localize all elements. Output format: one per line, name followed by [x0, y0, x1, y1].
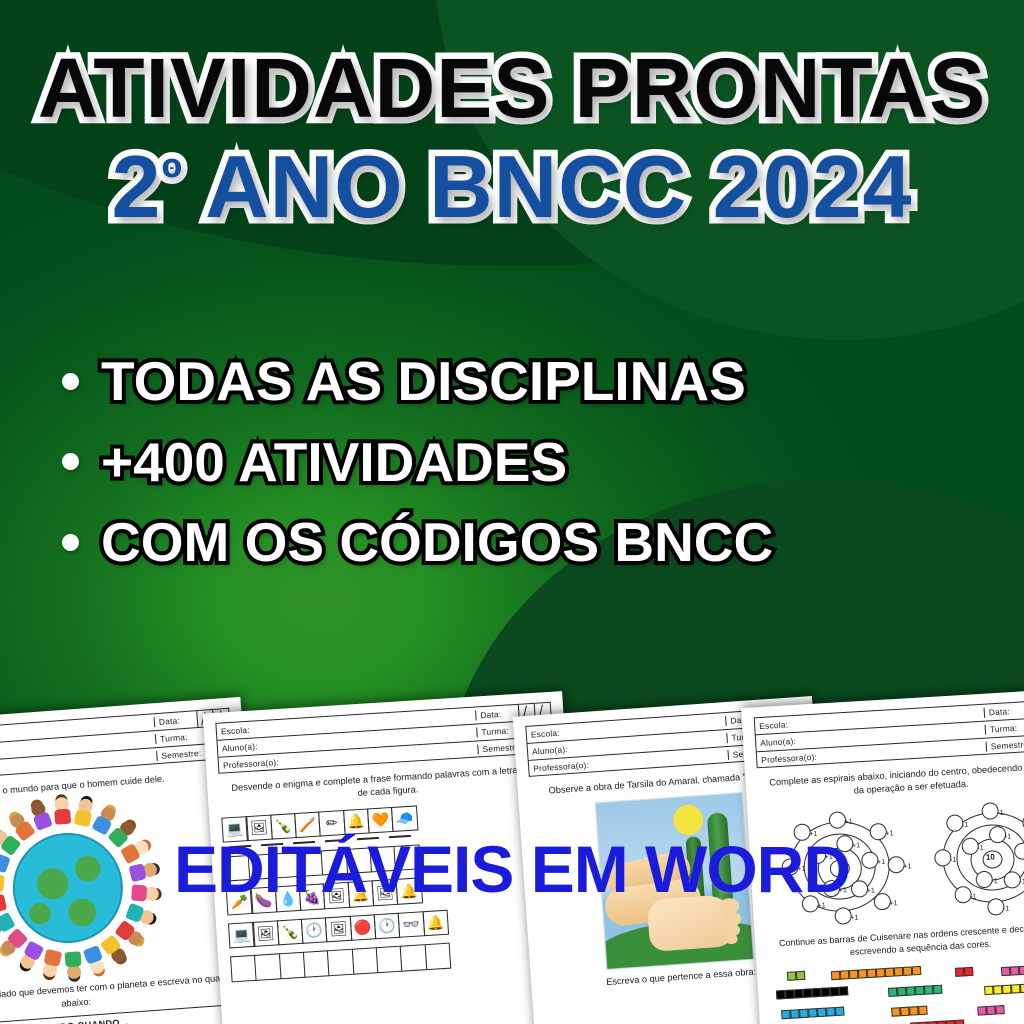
bullet-label: TODAS AS DISCIPLINAS	[101, 345, 746, 418]
grid-picture-cell: 🕐	[301, 917, 328, 944]
bullet-item: TODAS AS DISCIPLINAS	[62, 345, 984, 418]
header-label: Escola:	[531, 728, 561, 740]
cuisenaire-bar	[891, 1005, 927, 1016]
grid-answer-cell	[254, 953, 281, 980]
spiral-operation-label: -1	[1003, 903, 1010, 912]
spiral-operation-label: -1	[962, 820, 969, 829]
headline-block: ATIVIDADES PRONTAS 2º ANO BNCC 2024	[0, 46, 1024, 231]
bullet-dot-icon	[62, 373, 79, 390]
grid-picture-cell: 🔴	[349, 914, 376, 941]
header-field-data: Data:	[984, 700, 1024, 720]
header-label: Professora(o):	[223, 756, 279, 769]
header-label: Aluno(a):	[222, 741, 258, 753]
grid-answer-cell	[424, 943, 451, 970]
bullet-label: +400 ATIVIDADES	[101, 426, 567, 499]
header-label: Turma:	[481, 725, 509, 737]
cuisenaire-bar	[910, 1019, 964, 1024]
spiral-operation-label: +1	[850, 912, 859, 921]
cuisenaire-bars-group	[769, 953, 1024, 1024]
cuisenaire-unit	[995, 1005, 1005, 1015]
header-label: Data:	[480, 709, 502, 720]
cuisenaire-bar	[955, 967, 974, 977]
cuisenaire-unit	[912, 966, 922, 976]
grid-picture-cell: 🧢	[391, 805, 418, 832]
overlay-text: EDITÁVEIS EM WORD	[0, 836, 1024, 902]
cuisenaire-unit	[933, 984, 943, 994]
grid-picture-cell: 🔔	[422, 909, 449, 936]
editable-word-overlay: EDITÁVEIS EM WORD	[0, 836, 1024, 902]
worksheet-header-table: Escola: Data: Aluno(a): Turma: Professor…	[754, 699, 1024, 768]
answer-prompt: EU CUIDO QUANDO...	[27, 1017, 129, 1024]
spiral-node	[828, 811, 846, 829]
spiral-node	[981, 802, 999, 820]
grid-answer-cell	[279, 952, 306, 979]
grid-picture-cell: 🖼	[325, 915, 352, 942]
grid-answer-cell	[351, 947, 378, 974]
headline-line-1: ATIVIDADES PRONTAS	[0, 46, 1024, 132]
cuisenaire-unit	[1019, 965, 1024, 975]
grid-picture-cell: 💻	[228, 921, 255, 948]
bullet-item: COM OS CÓDIGOS BNCC	[62, 506, 984, 579]
bullet-item: +400 ATIVIDADES	[62, 426, 984, 499]
header-label: Semestre:	[991, 739, 1024, 751]
cuisenaire-unit	[964, 967, 974, 977]
headline-line-2: 2º ANO BNCC 2024	[0, 142, 1024, 232]
headline-ordinal-mark: º	[161, 146, 182, 209]
header-label: Data:	[989, 706, 1011, 717]
header-label: Escola:	[221, 725, 250, 737]
bullet-dot-icon	[62, 534, 79, 551]
spiral-node	[834, 907, 852, 925]
header-field-turma: Turma:	[986, 720, 1024, 734]
grid-picture-cell: 👓	[398, 911, 425, 938]
cuisenaire-bar	[1001, 965, 1024, 976]
headline-grade-number: 2	[111, 137, 161, 236]
bullet-label: COM OS CÓDIGOS BNCC	[101, 506, 773, 579]
cuisenaire-bar	[831, 966, 921, 980]
cuisenaire-unit	[955, 1019, 965, 1024]
worksheet-header-table: Escola: Data: Aluno(a): Turma: Professor…	[215, 702, 554, 774]
grid-picture-cell: 🕐	[374, 912, 401, 939]
header-field-semestre: Semestre:	[987, 737, 1024, 751]
grid-answer-cell	[327, 949, 354, 976]
header-label: Data:	[159, 715, 181, 727]
cuisenaire-bar	[984, 983, 1024, 995]
header-label: Semestre:	[161, 747, 202, 760]
header-label: Turma:	[160, 732, 188, 744]
header-label: Turma:	[990, 723, 1018, 735]
grid-answer-cell	[376, 946, 403, 973]
cuisenaire-unit	[839, 986, 849, 996]
grid-picture-cell: 🧡	[367, 807, 394, 834]
cuisenaire-bar	[781, 1006, 844, 1019]
bullet-dot-icon	[62, 453, 79, 470]
header-label: Professora(o):	[533, 759, 589, 773]
cuisenaire-unit	[835, 1006, 845, 1016]
cuisenaire-unit	[918, 1005, 928, 1015]
grid-answer-cell	[303, 950, 330, 977]
cuisenaire-bar	[888, 984, 942, 996]
feature-bullet-list: TODAS AS DISCIPLINAS +400 ATIVIDADES COM…	[62, 345, 984, 587]
header-label: Escola:	[759, 719, 788, 731]
grid-answer-cell	[400, 944, 427, 971]
header-label: Aluno(a):	[532, 744, 568, 756]
spiral-node	[945, 814, 963, 832]
spiral-operation-label: +1	[844, 816, 853, 825]
cuisenaire-unit	[796, 971, 806, 981]
grid-picture-cell: 🍾	[276, 918, 303, 945]
headline-grade-rest: ANO BNCC 2024	[183, 137, 913, 236]
grid-picture-cell: 🖼	[252, 920, 279, 947]
grid-answer-cell	[230, 955, 257, 982]
header-label: Aluno(a):	[760, 736, 796, 748]
spiral-operation-label: -1	[997, 807, 1004, 816]
cuisenaire-bar	[787, 971, 806, 981]
cuisenaire-unit	[1020, 983, 1024, 993]
cuisenaire-bar	[776, 986, 848, 999]
cuisenaire-bar	[977, 1005, 1004, 1016]
header-label: Professora(o):	[761, 751, 817, 764]
